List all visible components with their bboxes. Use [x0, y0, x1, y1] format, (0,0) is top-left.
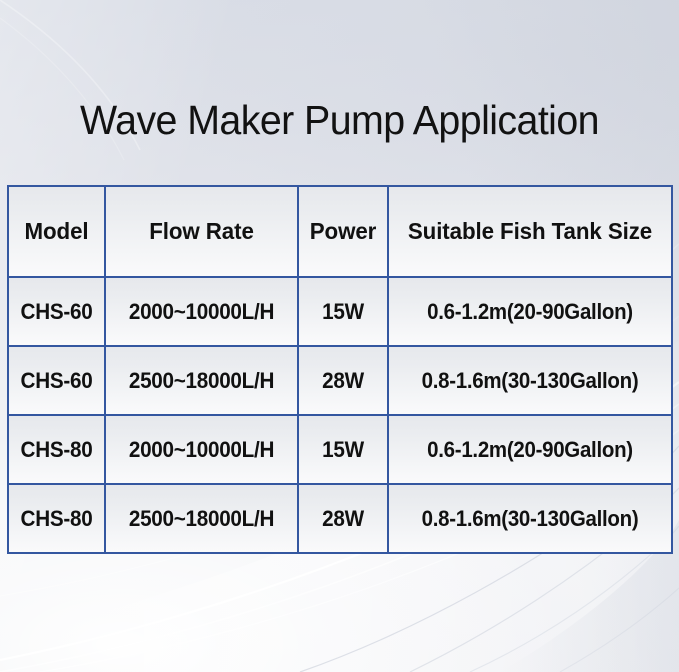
cell-power-value: 28W	[302, 506, 385, 532]
column-header-power: Power	[298, 186, 388, 277]
column-header-tank-size-label: Suitable Fish Tank Size	[396, 218, 664, 245]
cell-flow-rate-value: 2000~10000L/H	[112, 299, 292, 325]
table-header-row: Model Flow Rate Power Suitable Fish Tank…	[8, 186, 672, 277]
cell-tank-size: 0.8-1.6m(30-130Gallon)	[388, 346, 672, 415]
cell-flow-rate-value: 2000~10000L/H	[112, 437, 292, 463]
cell-power-value: 15W	[302, 437, 385, 463]
cell-power: 15W	[298, 415, 388, 484]
cell-power-value: 28W	[302, 368, 385, 394]
spec-table-container: Model Flow Rate Power Suitable Fish Tank…	[7, 185, 671, 554]
cell-tank-size-value: 0.6-1.2m(20-90Gallon)	[399, 299, 661, 325]
cell-tank-size: 0.8-1.6m(30-130Gallon)	[388, 484, 672, 553]
cell-power: 15W	[298, 277, 388, 346]
cell-flow-rate: 2000~10000L/H	[105, 415, 298, 484]
column-header-power-label: Power	[301, 218, 385, 245]
cell-flow-rate-value: 2500~18000L/H	[112, 368, 292, 394]
table-row: CHS-60 2000~10000L/H 15W 0.6-1.2m(20-90G…	[8, 277, 672, 346]
cell-tank-size: 0.6-1.2m(20-90Gallon)	[388, 415, 672, 484]
column-header-model: Model	[8, 186, 105, 277]
column-header-tank-size: Suitable Fish Tank Size	[388, 186, 672, 277]
cell-model: CHS-60	[8, 346, 105, 415]
cell-flow-rate-value: 2500~18000L/H	[112, 506, 292, 532]
cell-power-value: 15W	[302, 299, 385, 325]
table-row: CHS-80 2500~18000L/H 28W 0.8-1.6m(30-130…	[8, 484, 672, 553]
cell-tank-size-value: 0.8-1.6m(30-130Gallon)	[399, 368, 661, 394]
page-content: Wave Maker Pump Application Model Flow R…	[0, 0, 679, 672]
cell-tank-size: 0.6-1.2m(20-90Gallon)	[388, 277, 672, 346]
cell-flow-rate: 2500~18000L/H	[105, 484, 298, 553]
cell-flow-rate: 2500~18000L/H	[105, 346, 298, 415]
column-header-flow-rate-label: Flow Rate	[111, 218, 292, 245]
page-title: Wave Maker Pump Application	[14, 96, 666, 144]
cell-power: 28W	[298, 346, 388, 415]
cell-model: CHS-60	[8, 277, 105, 346]
column-header-flow-rate: Flow Rate	[105, 186, 298, 277]
cell-model-value: CHS-80	[12, 437, 101, 463]
cell-model-value: CHS-80	[12, 506, 101, 532]
cell-tank-size-value: 0.6-1.2m(20-90Gallon)	[399, 437, 661, 463]
cell-model: CHS-80	[8, 415, 105, 484]
table-row: CHS-60 2500~18000L/H 28W 0.8-1.6m(30-130…	[8, 346, 672, 415]
table-row: CHS-80 2000~10000L/H 15W 0.6-1.2m(20-90G…	[8, 415, 672, 484]
cell-model-value: CHS-60	[12, 368, 101, 394]
cell-model-value: CHS-60	[12, 299, 101, 325]
cell-power: 28W	[298, 484, 388, 553]
pump-application-table: Model Flow Rate Power Suitable Fish Tank…	[7, 185, 673, 554]
cell-model: CHS-80	[8, 484, 105, 553]
cell-tank-size-value: 0.8-1.6m(30-130Gallon)	[399, 506, 661, 532]
cell-flow-rate: 2000~10000L/H	[105, 277, 298, 346]
column-header-model-label: Model	[11, 218, 101, 245]
